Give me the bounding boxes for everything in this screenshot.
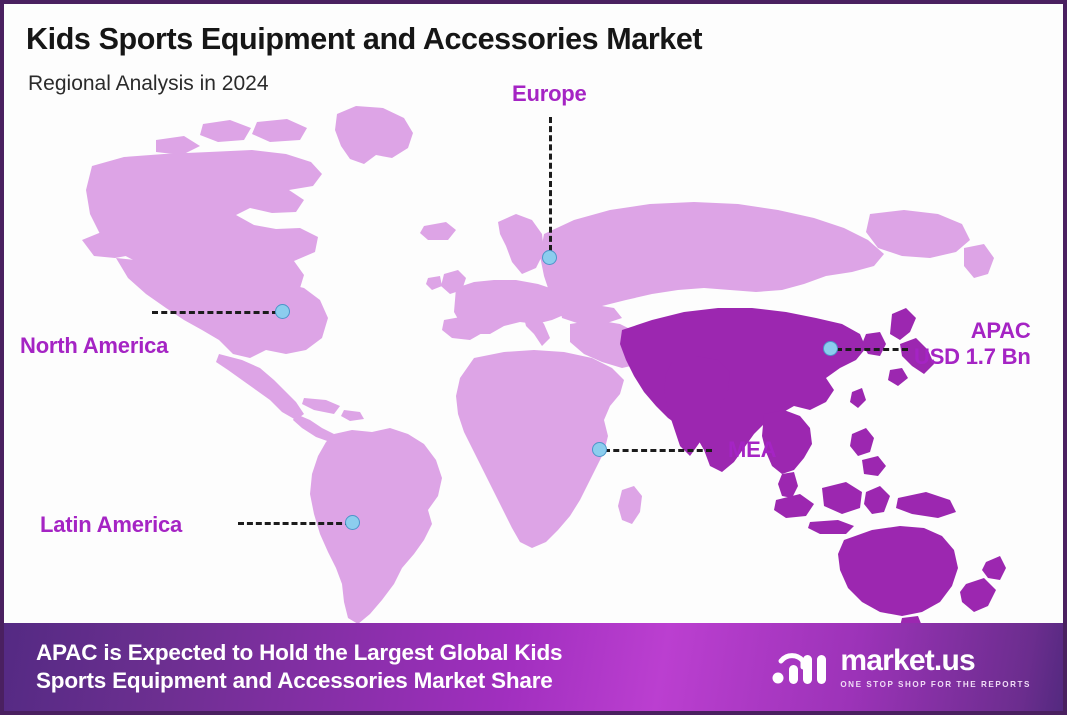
- region-iberia: [442, 316, 484, 340]
- region-label-apac[interactable]: APAC USD 1.7 Bn: [914, 318, 1031, 369]
- region-label-text-mea: MEA: [728, 437, 776, 462]
- region-south-america: [310, 428, 442, 624]
- region-label-text-europe: Europe: [512, 81, 587, 106]
- region-russia: [540, 202, 884, 310]
- region-japan: [890, 308, 916, 340]
- region-sulawesi: [864, 486, 890, 514]
- region-philippines-south: [862, 456, 886, 476]
- market-us-logo[interactable]: market.us ONE STOP SHOP FOR THE REPORTS: [769, 645, 1039, 689]
- logo-wordmark: market.us: [840, 646, 1031, 676]
- leader-line-mea: [604, 449, 712, 452]
- region-new-zealand-south: [960, 578, 996, 612]
- page-title: Kids Sports Equipment and Accessories Ma…: [26, 22, 702, 57]
- region-central-america: [293, 414, 334, 442]
- region-label-europe[interactable]: Europe: [512, 81, 587, 107]
- region-label-text-latin-america: Latin America: [40, 512, 182, 537]
- region-label-text-apac: APAC: [914, 318, 1031, 344]
- infographic-canvas: Kids Sports Equipment and Accessories Ma…: [0, 0, 1067, 715]
- region-korea: [862, 332, 886, 356]
- logo-tagline: ONE STOP SHOP FOR THE REPORTS: [840, 680, 1031, 689]
- region-taiwan: [850, 388, 866, 408]
- region-arctic-island-2: [252, 119, 307, 142]
- region-russia-ne: [866, 210, 970, 258]
- region-label-text-north-america: North America: [20, 333, 168, 358]
- region-mexico: [216, 354, 304, 420]
- region-arctic-island-3: [156, 136, 200, 155]
- region-australia: [838, 526, 958, 616]
- region-japan-kyushu: [888, 368, 908, 386]
- region-greenland: [335, 106, 413, 164]
- region-malay-peninsula: [778, 472, 798, 498]
- region-java: [808, 520, 854, 534]
- region-hispaniola: [341, 410, 364, 421]
- region-value-apac: USD 1.7 Bn: [914, 344, 1031, 370]
- leader-line-europe: [549, 117, 552, 251]
- region-label-latin-america[interactable]: Latin America: [40, 512, 182, 538]
- region-cuba: [302, 398, 340, 414]
- banner-headline-line1: APAC is Expected to Hold the Largest Glo…: [36, 639, 562, 667]
- bottom-banner: APAC is Expected to Hold the Largest Glo…: [4, 623, 1063, 711]
- region-madagascar: [618, 486, 642, 524]
- leader-line-north-america: [152, 311, 278, 314]
- region-arctic-island-1: [200, 120, 251, 142]
- region-borneo: [822, 482, 862, 514]
- region-philippines: [850, 428, 874, 456]
- marker-dot-europe[interactable]: [542, 250, 557, 265]
- region-kamchatka: [964, 244, 994, 278]
- marker-dot-latin-america[interactable]: [345, 515, 360, 530]
- leader-line-latin-america: [238, 522, 351, 525]
- region-ireland: [426, 276, 442, 290]
- region-new-zealand-north: [982, 556, 1006, 580]
- marker-dot-mea[interactable]: [592, 442, 607, 457]
- region-sumatra: [774, 494, 814, 518]
- banner-headline-line2: Sports Equipment and Accessories Market …: [36, 667, 562, 695]
- region-turkey: [560, 304, 622, 324]
- market-us-logo-text: market.us ONE STOP SHOP FOR THE REPORTS: [840, 646, 1031, 689]
- marker-dot-apac[interactable]: [823, 341, 838, 356]
- marker-dot-north-america[interactable]: [275, 304, 290, 319]
- market-us-logo-mark: [769, 645, 831, 689]
- region-label-mea[interactable]: MEA: [728, 437, 776, 463]
- region-scandinavia: [498, 214, 544, 274]
- banner-headline: APAC is Expected to Hold the Largest Glo…: [36, 639, 562, 695]
- region-iceland: [420, 222, 456, 240]
- leader-line-apac: [836, 348, 908, 351]
- region-new-guinea: [896, 492, 956, 518]
- region-label-north-america[interactable]: North America: [20, 333, 168, 359]
